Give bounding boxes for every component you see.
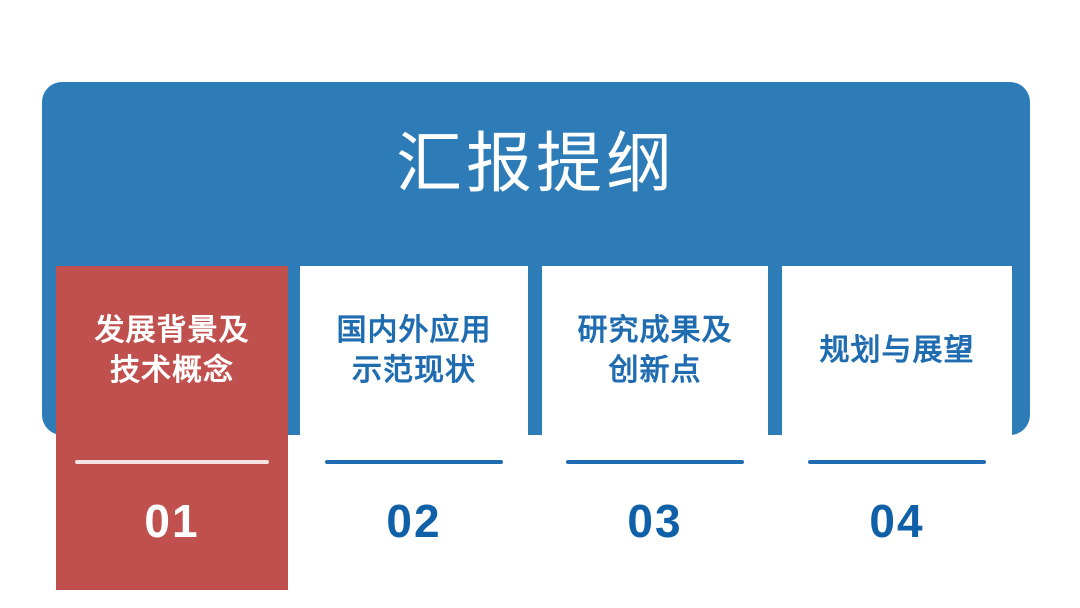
agenda-card-01-number: 01 (56, 494, 288, 548)
agenda-card-01-line1: 发展背景及 (95, 311, 250, 351)
agenda-card-04-heading: 规划与展望 (782, 266, 1012, 436)
slide-canvas: 汇报提纲 发展背景及 技术概念 01 国内外应用 示范现状 02 研究成果及 创… (0, 0, 1080, 608)
agenda-card-04[interactable]: 规划与展望 04 (782, 266, 1012, 590)
agenda-card-04-divider (808, 460, 986, 464)
agenda-card-03-line1: 研究成果及 (578, 311, 733, 351)
agenda-card-01-heading: 发展背景及 技术概念 (56, 266, 288, 436)
agenda-card-02-line1: 国内外应用 (337, 311, 492, 351)
agenda-card-04-number: 04 (782, 494, 1012, 548)
agenda-card-02[interactable]: 国内外应用 示范现状 02 (300, 266, 528, 590)
agenda-card-03-heading: 研究成果及 创新点 (542, 266, 768, 436)
agenda-card-03-number: 03 (542, 494, 768, 548)
agenda-card-02-heading: 国内外应用 示范现状 (300, 266, 528, 436)
agenda-card-03-divider (566, 460, 744, 464)
agenda-card-03[interactable]: 研究成果及 创新点 03 (542, 266, 768, 590)
agenda-card-02-line2: 示范现状 (352, 351, 476, 391)
agenda-card-01[interactable]: 发展背景及 技术概念 01 (56, 266, 288, 590)
agenda-card-03-line2: 创新点 (609, 351, 702, 391)
page-title: 汇报提纲 (42, 110, 1030, 220)
agenda-card-04-line1: 规划与展望 (820, 331, 975, 371)
agenda-card-02-divider (325, 460, 503, 464)
agenda-card-01-divider (75, 460, 269, 464)
agenda-card-02-number: 02 (300, 494, 528, 548)
agenda-card-01-line2: 技术概念 (110, 351, 234, 391)
